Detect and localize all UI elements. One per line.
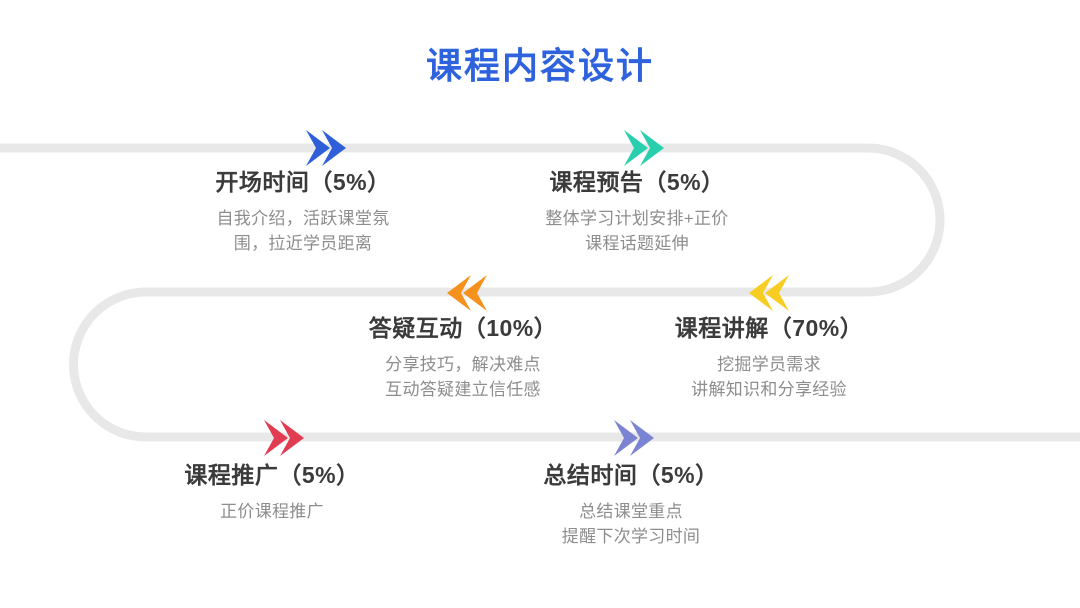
stage-desc-line: 总结课堂重点: [451, 499, 811, 525]
stage-desc-line: 整体学习计划安排+正价: [457, 206, 817, 232]
infographic-canvas: 课程内容设计: [0, 0, 1080, 608]
stage-block-lecture: 课程讲解（70%） 挖掘学员需求 讲解知识和分享经验: [589, 314, 949, 403]
stage-desc-promotion: 正价课程推广: [92, 499, 452, 525]
stage-heading-preview: 课程预告（5%）: [457, 168, 817, 197]
stage-heading-lecture: 课程讲解（70%）: [589, 314, 949, 343]
stage-heading-promotion: 课程推广（5%）: [92, 461, 452, 490]
stage-desc-line: 自我介绍，活跃课堂氛: [123, 206, 483, 232]
stage-desc-opening: 自我介绍，活跃课堂氛 围，拉近学员距离: [123, 206, 483, 257]
stage-desc-preview: 整体学习计划安排+正价 课程话题延伸: [457, 206, 817, 257]
stage-heading-summary: 总结时间（5%）: [451, 461, 811, 490]
stage-desc-line: 讲解知识和分享经验: [589, 377, 949, 403]
stage-desc-line: 正价课程推广: [92, 499, 452, 525]
stage-block-summary: 总结时间（5%） 总结课堂重点 提醒下次学习时间: [451, 461, 811, 550]
stage-heading-opening: 开场时间（5%）: [123, 168, 483, 197]
stage-desc-line: 挖掘学员需求: [589, 352, 949, 378]
stage-block-preview: 课程预告（5%） 整体学习计划安排+正价 课程话题延伸: [457, 168, 817, 257]
stage-block-promotion: 课程推广（5%） 正价课程推广: [92, 461, 452, 524]
stage-desc-line: 课程话题延伸: [457, 231, 817, 257]
stage-desc-line: 围，拉近学员距离: [123, 231, 483, 257]
stage-desc-lecture: 挖掘学员需求 讲解知识和分享经验: [589, 352, 949, 403]
stage-desc-summary: 总结课堂重点 提醒下次学习时间: [451, 499, 811, 550]
stage-block-opening: 开场时间（5%） 自我介绍，活跃课堂氛 围，拉近学员距离: [123, 168, 483, 257]
stage-desc-line: 提醒下次学习时间: [451, 524, 811, 550]
